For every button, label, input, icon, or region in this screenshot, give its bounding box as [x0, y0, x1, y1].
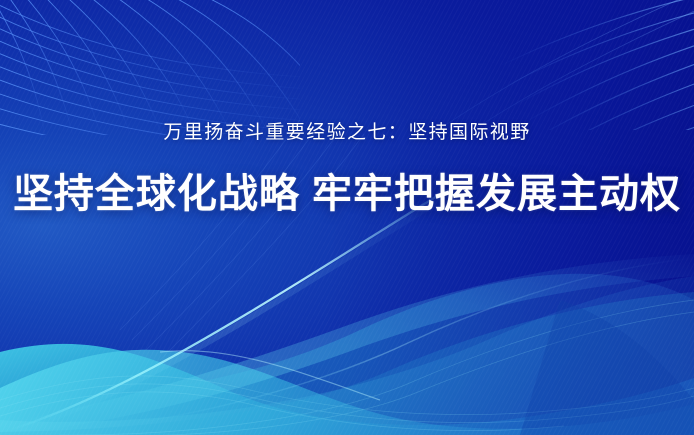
banner-subtitle: 万里扬奋斗重要经验之七：坚持国际视野 [0, 118, 694, 148]
banner-poster: 万里扬奋斗重要经验之七：坚持国际视野 坚持全球化战略 牢牢把握发展主动权 [0, 0, 694, 435]
banner-title: 坚持全球化战略 牢牢把握发展主动权 [0, 170, 694, 218]
banner-text-block: 万里扬奋斗重要经验之七：坚持国际视野 坚持全球化战略 牢牢把握发展主动权 [0, 118, 694, 218]
